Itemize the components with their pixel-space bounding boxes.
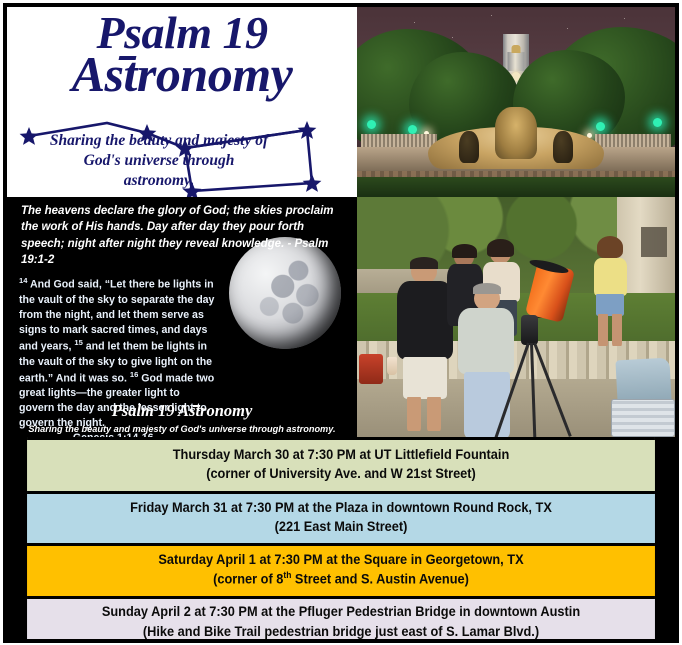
logo-title-line2: Astronomy — [7, 51, 357, 98]
event-line-2: (Hike and Bike Trail pedestrian bridge j… — [36, 622, 645, 641]
event-line-1: Friday March 31 at 7:30 PM at the Plaza … — [36, 498, 645, 517]
logo-tagline: Sharing the beauty and majesty of God's … — [49, 131, 269, 190]
event-line-1: Sunday April 2 at 7:30 PM at the Pfluger… — [36, 602, 645, 621]
event-row-thursday[interactable]: Thursday March 30 at 7:30 PM at UT Littl… — [27, 437, 655, 491]
event-line-2: (corner of 8th Street and S. Austin Aven… — [36, 569, 645, 589]
fountain-statue — [495, 107, 537, 159]
event-line-2: (corner of University Ave. and W 21st St… — [36, 464, 645, 483]
building-window — [641, 227, 667, 257]
drink-cup — [387, 357, 397, 375]
photo-telescope-public-outreach — [357, 197, 675, 437]
ordinal-suffix: th — [283, 570, 291, 580]
fountain-horse-right — [553, 131, 573, 163]
event-line-1: Thursday March 30 at 7:30 PM at UT Littl… — [36, 445, 645, 464]
cross-t-icon-small: t — [195, 401, 200, 420]
fountain-horse-left — [459, 131, 479, 163]
event-line-1: Saturday April 1 at 7:30 PM at the Squar… — [36, 550, 645, 569]
person-at-eyepiece — [456, 286, 518, 435]
event-schedule-list: Thursday March 30 at 7:30 PM at UT Littl… — [7, 437, 675, 643]
event-line-2-post: Street and S. Austin Avenue) — [291, 572, 469, 587]
event-row-saturday[interactable]: Saturday April 1 at 7:30 PM at the Squar… — [27, 543, 655, 596]
flyer-top-section: Psalm 19 Astronomy Sharing the beauty a — [7, 7, 675, 437]
verse-number-15: 15 — [74, 338, 82, 347]
weather-updates-line: Event weather updates on Facebook at htt… — [36, 641, 645, 643]
telescope — [513, 269, 593, 437]
footer-brand-pre: Psalm 19 As — [112, 401, 196, 420]
footer-brand-post: ronomy — [200, 401, 252, 420]
logo-title-line2-pre: As — [72, 46, 124, 102]
scripture-panel: The heavens declare the glory of God; th… — [7, 197, 357, 437]
psalm-quote: The heavens declare the glory of God; th… — [7, 197, 357, 268]
fountain-balustrade-left — [361, 134, 437, 147]
event-row-friday[interactable]: Friday March 31 at 7:30 PM at the Plaza … — [27, 491, 655, 544]
cross-t-icon: t — [124, 46, 137, 102]
logo-panel: Psalm 19 Astronomy Sharing the beauty a — [7, 7, 357, 197]
photo-ut-tower-littlefield-fountain-night — [357, 7, 675, 197]
telescope-mount — [521, 315, 538, 345]
flyer-frame: Psalm 19 Astronomy Sharing the beauty a — [3, 3, 679, 643]
event-line-2-pre: (corner of 8 — [213, 572, 283, 587]
event-row-sunday[interactable]: Sunday April 2 at 7:30 PM at the Pfluger… — [27, 596, 655, 643]
footer-brand-name: Psalm 19 Astronomy — [7, 401, 357, 421]
tripod-leg-center — [530, 343, 537, 437]
foreground-hedge — [357, 177, 675, 197]
person-yellow-top — [592, 240, 630, 365]
logo-title: Psalm 19 Astronomy — [7, 11, 357, 98]
flyer-page: Psalm 19 Astronomy Sharing the beauty a — [0, 0, 682, 645]
fountain-balustrade-right — [595, 134, 671, 147]
tripod-leg-right — [533, 342, 572, 436]
ut-tower-cap — [512, 45, 521, 53]
logo-title-line2-post: ronomy — [137, 46, 292, 102]
ut-tower-belfry — [508, 52, 525, 71]
red-cooler — [359, 354, 383, 384]
event-line-2: (221 East Main Street) — [36, 517, 645, 536]
equipment-suitcase — [611, 399, 675, 437]
footer-brand-tagline: Sharing the beauty and majesty of God's … — [7, 424, 357, 434]
